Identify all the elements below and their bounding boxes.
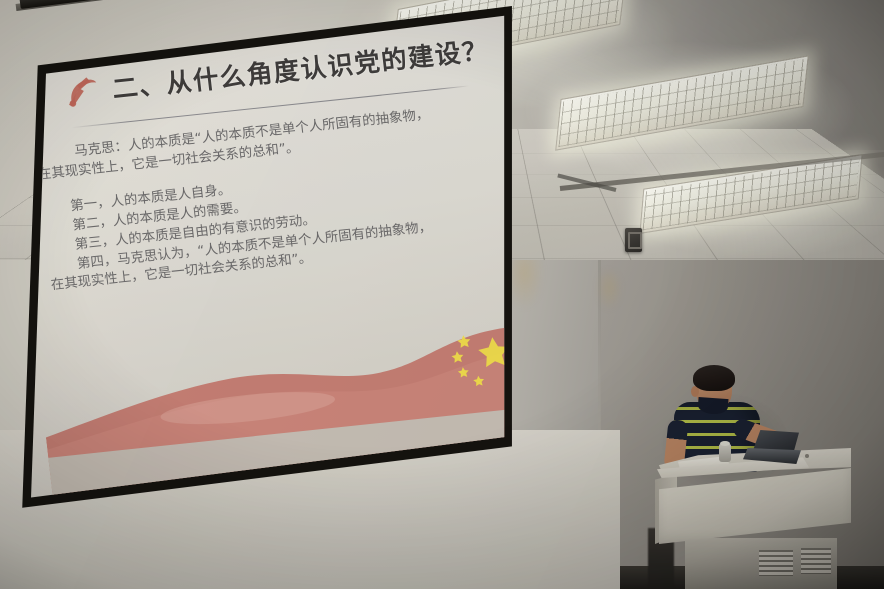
screen-surface: 二、从什么角度认识党的建设？ 马克思：人的本质是“人的本质不是单个人所固有的抽象… — [14, 6, 530, 518]
hammer-and-sickle-icon — [62, 72, 107, 111]
lectern[interactable] — [655, 438, 855, 589]
lectern-screw — [805, 454, 809, 458]
screen-roller-housing — [16, 0, 533, 11]
slide-decoration — [37, 308, 530, 515]
laptop-keyboard[interactable] — [743, 448, 801, 464]
presenter-hair — [693, 365, 735, 391]
lectern-vent — [759, 550, 793, 576]
projection-screen[interactable]: 二、从什么角度认识党的建设？ 马克思：人的本质是“人的本质不是单个人所固有的抽象… — [0, 0, 560, 540]
red-wave-with-stars-icon — [37, 308, 530, 515]
microphone-base[interactable] — [719, 444, 731, 462]
screen-roller-bar[interactable] — [19, 0, 537, 9]
laptop[interactable] — [743, 430, 805, 464]
lectern-vent — [801, 548, 831, 574]
classroom-photo: 二、从什么角度认识党的建设？ 马克思：人的本质是“人的本质不是单个人所固有的抽象… — [0, 0, 884, 589]
wall-sensor-icon — [625, 228, 642, 252]
lectern-front-panel — [659, 468, 851, 544]
slide-title: 二、从什么角度认识党的建设？ — [110, 30, 491, 106]
slide: 二、从什么角度认识党的建设？ 马克思：人的本质是“人的本质不是单个人所固有的抽象… — [14, 6, 530, 518]
wall-stain — [596, 270, 622, 310]
slide-body: 马克思：人的本质是“人的本质不是单个人所固有的抽象物， 在其现实性上，它是一切社… — [35, 101, 495, 297]
